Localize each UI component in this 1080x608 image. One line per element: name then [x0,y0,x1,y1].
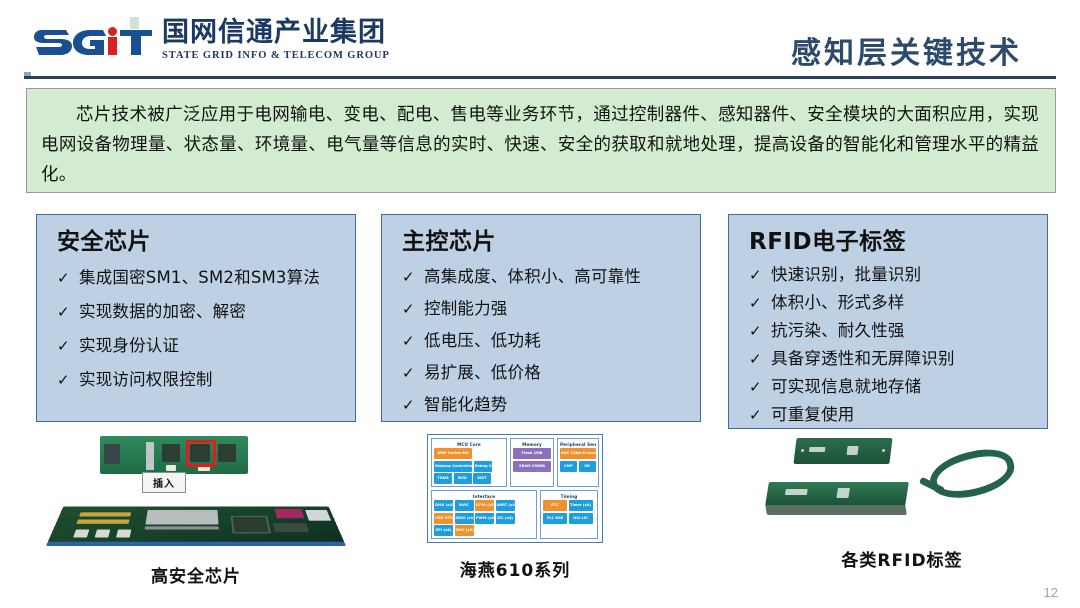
bullet-text: 可实现信息就地存储 [771,373,921,401]
check-icon: ✓ [402,326,424,357]
logo-chinese-name: 国网信通产业集团 [162,18,390,48]
soc-cell: GPIO (x56) [475,500,494,511]
list-item: ✓ 体积小、形式多样 [749,289,1037,317]
list-item: ✓ 低电压、低功耗 [402,325,690,357]
capacitor [73,530,89,538]
soc-cell: ADC 12bit 8-channel [560,448,596,459]
header-divider [24,76,1056,79]
list-item: ✓ 抗污染、耐久性强 [749,317,1037,345]
bullet-text: 快速识别，批量识别 [771,261,921,289]
soc-cell: Timer (x4) [569,500,593,511]
soc-cell: RTC [543,500,567,511]
capacitor [95,530,111,538]
highlight-rectangle [186,440,216,467]
figure-caption: 海燕610系列 [420,556,610,581]
bullet-text: 智能化趋势 [424,389,508,420]
card-bullet-list: ✓ 快速识别，批量识别 ✓ 体积小、形式多样 ✓ 抗污染、耐久性强 ✓ 具备穿透… [749,261,1037,429]
intro-callout-box: 芯片技术被广泛应用于电网输电、变电、配电、售电等业务环节，通过控制器件、感知器件… [26,88,1056,193]
figures-row: 插入 高安全芯片 [0,432,1080,608]
insert-annotation-label: 插入 [142,472,186,493]
check-icon: ✓ [402,390,424,421]
card-title: 主控芯片 [402,227,690,257]
soc-cell: UART (x4) [496,500,515,511]
tag-print [785,489,808,495]
soc-group-interface: Interface DMA (x4) NVIC GPIO (x56) UART … [431,490,537,539]
feature-cards-row: 安全芯片 ✓ 集成国密SM1、SM2和SM3算法 ✓ 实现数据的加密、解密 ✓ … [0,214,1080,429]
bullet-text: 控制能力强 [424,293,508,324]
io-port [305,510,331,521]
bullet-text: 实现访问权限控制 [79,363,213,397]
check-icon: ✓ [57,363,79,397]
soc-cell: HSI LSI [569,513,593,524]
soc-block-diagram: MCU Core ARM Cortex-M4 Wakeup Controller… [427,434,603,543]
board-edge [46,542,346,546]
capacitor [116,530,131,538]
rfid-tag-flat [793,438,892,464]
soc-cell: WDT [473,473,491,484]
card-chip [218,444,236,462]
slide-root: 国网信通产业集团 STATE GRID INFO & TELECOM GROUP… [0,0,1080,608]
card-security-chip[interactable]: 安全芯片 ✓ 集成国密SM1、SM2和SM3算法 ✓ 实现数据的加密、解密 ✓ … [36,214,356,422]
list-item: ✓ 可重复使用 [749,401,1037,429]
soc-cell: PLL HSE [543,513,567,524]
soc-cell: SPI (x4) [434,525,453,536]
soc-cell-list: Flash 1MB SRAM 256KB [513,448,551,472]
soc-cell: USB OTG [434,513,453,524]
board-slot [79,512,131,516]
figure-caption: 各类RFID标签 [742,546,1062,571]
board-slot [76,519,129,523]
soc-row-bottom: Interface DMA (x4) NVIC GPIO (x56) UART … [431,490,599,539]
card-bullet-list: ✓ 高集成度、体积小、高可靠性 ✓ 控制能力强 ✓ 低电压、低功耗 ✓ 易扩展、… [402,261,690,421]
soc-cell: ARM Cortex-M4 [434,448,472,459]
soc-cell: TRNG [434,473,452,484]
bullet-text: 可重复使用 [771,401,855,429]
soc-cell: NVIC [455,500,474,511]
slide-header: 国网信通产业集团 STATE GRID INFO & TELECOM GROUP… [0,0,1080,84]
card-bracket [146,442,154,470]
check-icon: ✓ [749,373,771,401]
logo-wordmark: 国网信通产业集团 STATE GRID INFO & TELECOM GROUP [162,17,390,62]
bullet-text: 实现数据的加密、解密 [79,295,246,329]
soc-group-title: Memory [513,441,551,448]
page-title: 感知层关键技术 [791,28,1022,72]
figure-security-chip: 插入 高安全芯片 [36,432,356,587]
check-icon: ✓ [402,262,424,293]
list-item: ✓ 快速识别，批量识别 [749,261,1037,289]
bullet-text: 高集成度、体积小、高可靠性 [424,261,641,292]
check-icon: ✓ [57,261,79,295]
soc-cell-list: ADC 12bit 8-channel CMP VD [560,448,596,472]
card-chip [166,465,176,471]
list-item: ✓ 可实现信息就地存储 [749,373,1037,401]
check-icon: ✓ [749,261,771,289]
figure-caption: 高安全芯片 [36,562,356,587]
soc-cell: SRAM 256KB [513,461,551,472]
bullet-text: 体积小、形式多样 [771,289,905,317]
soc-group-memory: Memory Flash 1MB SRAM 256KB [510,438,554,487]
bullet-text: 低电压、低功耗 [424,325,541,356]
io-connector [274,509,304,518]
soc-group-mcu-core: MCU Core ARM Cortex-M4 Wakeup Controller… [431,438,507,487]
check-icon: ✓ [749,401,771,429]
card-title: 安全芯片 [57,227,345,257]
check-icon: ✓ [749,345,771,373]
soc-group-peripheral-sensors: Peripheral Sensors ADC 12bit 8-channel C… [557,438,599,487]
list-item: ✓ 高集成度、体积小、高可靠性 [402,261,690,293]
soc-cell: VD [579,461,596,472]
soc-group-title: Peripheral Sensors [560,441,596,448]
motherboard-board [46,507,346,546]
soc-cell: CMP [560,461,577,472]
check-icon: ✓ [57,295,79,329]
intro-paragraph: 芯片技术被广泛应用于电网输电、变电、配电、售电等业务环节，通过控制器件、感知器件… [41,100,1039,190]
card-chip [162,444,180,462]
soc-cell: SDIO (x1) [455,513,474,524]
list-item: ✓ 实现数据的加密、解密 [57,295,345,329]
card-bullet-list: ✓ 集成国密SM1、SM2和SM3算法 ✓ 实现数据的加密、解密 ✓ 实现身份认… [57,261,345,397]
soc-cell: MAC (x2) [455,525,474,536]
list-item: ✓ 具备穿透性和无屏障识别 [749,345,1037,373]
card-port [104,444,120,464]
soc-cell: PWM (x4) [475,513,494,524]
soc-cell: Flash 1MB [513,448,551,459]
bullet-text: 集成国密SM1、SM2和SM3算法 [79,261,320,295]
company-logo: 国网信通产业集团 STATE GRID INFO & TELECOM GROUP [34,17,390,62]
card-rfid-tag[interactable]: RFID电子标签 ✓ 快速识别，批量识别 ✓ 体积小、形式多样 ✓ 抗污染、耐久… [728,214,1048,429]
bullet-text: 实现身份认证 [79,329,179,363]
check-icon: ✓ [57,329,79,363]
sgit-logo-icon [34,17,152,57]
check-icon: ✓ [402,294,424,325]
soc-cell: Wakeup Controller [434,461,472,472]
list-item: ✓ 易扩展、低价格 [402,357,690,389]
list-item: ✓ 智能化趋势 [402,389,690,421]
soc-group-title: Interface [434,493,534,500]
soc-group-timing: Timing RTC Timer (x4) PLL HSE HSI LSI [540,490,598,539]
rfid-tags-photo [747,430,1057,542]
figure-rfid-tags: 各类RFID标签 [742,430,1062,571]
tag-hole [882,449,885,452]
soc-group-title: MCU Core [434,441,504,448]
logo-english-name: STATE GRID INFO & TELECOM GROUP [162,49,390,62]
soc-group-title: Timing [543,493,595,500]
security-card-image [100,436,248,474]
soc-cell-list: DMA (x4) NVIC GPIO (x56) UART (x4) USB O… [434,500,534,536]
bullet-text: 易扩展、低价格 [424,357,541,388]
card-title: RFID电子标签 [749,227,1037,257]
page-number: 12 [1044,585,1058,600]
card-main-control-chip[interactable]: 主控芯片 ✓ 高集成度、体积小、高可靠性 ✓ 控制能力强 ✓ 低电压、低功耗 ✓… [381,214,701,422]
soc-row-top: MCU Core ARM Cortex-M4 Wakeup Controller… [431,438,599,487]
soc-cell: BOD [454,473,472,484]
bullet-text: 抗污染、耐久性强 [771,317,905,345]
check-icon: ✓ [749,317,771,345]
soc-cell-list: ARM Cortex-M4 Wakeup Controller Debug Un… [434,448,504,484]
list-item: ✓ 实现身份认证 [57,329,345,363]
motherboard-photo: 插入 [46,432,346,550]
check-icon: ✓ [402,358,424,389]
rfid-tag-thick [765,482,909,506]
soc-cell: I2C (x4) [496,513,515,524]
tag-hole [801,449,804,452]
heatsink-base [145,526,219,529]
check-icon: ✓ [749,289,771,317]
tag-print [836,488,850,498]
list-item: ✓ 控制能力强 [402,293,690,325]
bullet-text: 具备穿透性和无屏障识别 [771,345,955,373]
heatsink [145,510,218,524]
rfid-cable-tie-tag [925,442,1019,505]
soc-cell-list: RTC Timer (x4) PLL HSE HSI LSI [543,500,595,524]
cpu-socket [231,516,272,534]
soc-cell: DMA (x4) [434,500,453,511]
figure-soc-diagram: MCU Core ARM Cortex-M4 Wakeup Controller… [420,434,610,581]
tag-print [847,446,859,455]
list-item: ✓ 实现访问权限控制 [57,363,345,397]
soc-cell: Debug Unit [474,461,492,472]
list-item: ✓ 集成国密SM1、SM2和SM3算法 [57,261,345,295]
tag-print [809,447,826,452]
chipset [273,523,310,532]
